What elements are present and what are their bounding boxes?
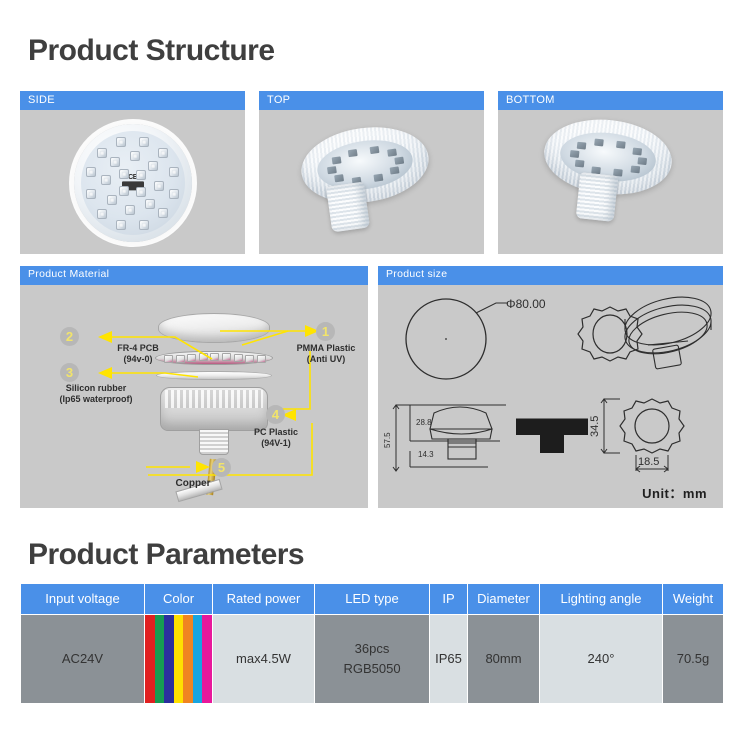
panel-product-size: Product size Φ80.00 [378,266,723,508]
table-header-row: Input voltage Color Rated power LED type… [21,584,724,615]
column-header-led-type: LED type [315,584,430,615]
led-chip [136,187,146,197]
led-type-model: RGB5050 [317,659,427,679]
panel-top-view: TOP [259,91,484,254]
callout-number-3: 3 [60,363,79,382]
dome-led-chip [577,142,587,150]
led-chip [101,175,111,185]
led-chip [119,169,129,179]
dome-led-chip [575,160,585,168]
led-chip [148,161,158,171]
callout-label-copper: Copper [160,478,226,491]
column-header-rated-power: Rated power [213,584,315,615]
cell-led-type: 36pcs RGB5050 [315,615,430,704]
led-chip [154,181,164,191]
panel-size-header: Product size [378,266,723,285]
panel-side-body: CE [20,110,245,256]
callout-label-fr4-pcb: FR-4 PCB (94v-0) [90,343,186,366]
led-chip [107,195,117,205]
dome-led-chip [595,138,605,146]
column-header-input-voltage: Input voltage [21,584,145,615]
color-swatch-5 [193,615,203,703]
cell-input-voltage: AC24V [21,615,145,704]
panel-size-body: Φ80.00 [378,285,723,510]
dome-led-chip [389,166,399,174]
led-chip [110,157,120,167]
panel-product-material: Product Material [20,266,368,508]
product-parameters-table: Input voltage Color Rated power LED type… [20,584,724,704]
color-swatch-strip [145,615,212,703]
callout-label-pc-plastic: PC Plastic (94V-1) [226,427,326,450]
led-chip [116,137,126,147]
led-board-front-image: CE [74,124,192,242]
panel-material-body: 1 PMMA Plastic (Anti UV) 2 FR-4 PCB (94v… [20,285,368,510]
led-chip [169,167,179,177]
callout-label-silicon-rubber: Silicon rubber (Ip65 waterproof) [36,383,156,406]
led-chip [145,199,155,209]
led-chip [86,189,96,199]
led-chip [119,186,129,196]
panel-side-view: SIDE CE [20,91,245,254]
panel-side-header: SIDE [20,91,245,110]
dome-led-chip [348,149,358,157]
led-chip [125,205,135,215]
column-header-color: Color [145,584,213,615]
led-chip [139,137,149,147]
drawing-cross-section [510,409,596,471]
dome-led-chip [327,166,337,174]
column-header-diameter: Diameter [468,584,540,615]
dome-led-chip [632,148,642,156]
led-chip [97,209,107,219]
callout-number-4: 4 [266,405,285,424]
threaded-stem-bottom [576,172,619,222]
drawing-side-elevation: 57.5 28.8 14.3 [382,395,522,479]
color-swatch-6 [202,615,212,703]
cell-weight: 70.5g [663,615,724,704]
led-chip [169,189,179,199]
led-board-surface: CE [81,131,185,235]
page-title-product-structure: Product Structure [28,34,275,68]
panel-top-body [259,110,484,256]
callout-number-2: 2 [60,327,79,346]
column-header-lighting-angle: Lighting angle [540,584,663,615]
callout-label-pmma-plastic: PMMA Plastic (Anti UV) [270,343,368,366]
color-swatch-4 [183,615,193,703]
dome-led-chip [332,157,342,165]
svg-text:57.5: 57.5 [383,431,392,447]
threaded-stem [326,182,370,233]
color-swatch-2 [164,615,174,703]
product-photo-bottom [498,110,723,256]
drawing-isometric-body [614,289,720,393]
page-title-product-parameters: Product Parameters [28,538,304,572]
product-photo-top [259,110,484,256]
dome-led-chip [394,157,404,165]
svg-text:14.3: 14.3 [418,450,434,459]
led-chip [158,208,168,218]
cell-lighting-angle: 240° [540,615,663,704]
table-row: AC24V max4.5W 36pcs RGB5050 IP65 80mm 24… [21,615,724,704]
svg-text:18.5: 18.5 [638,456,659,468]
dome-led-chip [387,149,397,157]
drawing-nut-dimensions: 34.5 18.5 [590,393,720,489]
led-chip [136,170,146,180]
led-type-count: 36pcs [317,639,427,659]
column-header-ip: IP [430,584,468,615]
color-swatch-1 [155,615,165,703]
panel-top-header: TOP [259,91,484,110]
cell-color [145,615,213,704]
dome-led-chip [369,146,379,154]
panel-bottom-view: BOTTOM [498,91,723,254]
led-chip [130,151,140,161]
panel-material-header: Product Material [20,266,368,285]
led-chip [97,148,107,158]
dome-led-chip [373,174,383,182]
led-chip [116,220,126,230]
color-swatch-3 [174,615,184,703]
cell-diameter: 80mm [468,615,540,704]
panel-bottom-header: BOTTOM [498,91,723,110]
panel-bottom-body [498,110,723,256]
callout-number-5: 5 [212,458,231,477]
svg-text:28.8: 28.8 [416,418,432,427]
svg-text:34.5: 34.5 [590,415,601,436]
led-chip [86,167,96,177]
product-photo-side: CE [20,110,245,256]
led-chip [158,148,168,158]
dome-led-chip [335,174,345,182]
unit-note-label: Unit：mm [642,483,707,502]
cell-ip: IP65 [430,615,468,704]
dome-led-chip [616,141,626,149]
column-header-weight: Weight [663,584,724,615]
callout-number-1: 1 [316,322,335,341]
led-chip [139,220,149,230]
dome-led-chip [637,157,647,165]
color-swatch-0 [145,615,155,703]
cell-rated-power: max4.5W [213,615,315,704]
dome-led-chip [570,150,580,158]
dim-diameter-label: Φ80.00 [506,297,546,311]
dome-led-chip [630,165,640,173]
